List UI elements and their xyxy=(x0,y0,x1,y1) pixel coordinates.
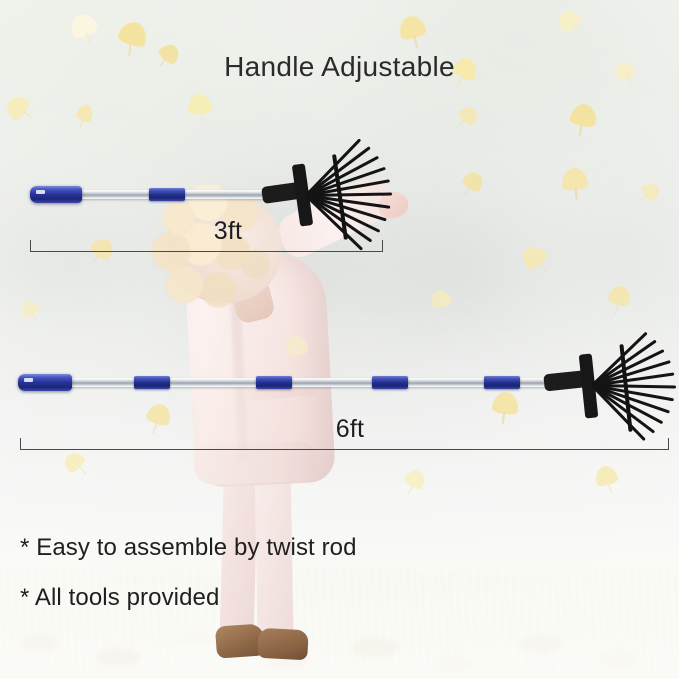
dimension-tick-right xyxy=(382,240,383,252)
ginkgo-leaf xyxy=(490,390,520,423)
dimension-label-3ft: 3ft xyxy=(214,217,242,246)
pole-collar xyxy=(256,376,292,389)
dimension-tick-left xyxy=(20,438,21,450)
rake-head-long xyxy=(544,338,679,442)
child-boot-right xyxy=(257,628,309,661)
handle-grip-long xyxy=(18,374,72,391)
ginkgo-leaf xyxy=(284,334,310,363)
pole-collar xyxy=(134,376,170,389)
dimension-line xyxy=(20,449,668,450)
pole-collar xyxy=(484,376,520,389)
dimension-tick-left xyxy=(30,240,31,252)
rake-head-short xyxy=(262,142,392,250)
ginkgo-leaf xyxy=(561,167,590,200)
dimension-tick-right xyxy=(668,438,669,450)
child-coat-hem xyxy=(193,441,318,485)
page-title: Handle Adjustable xyxy=(0,51,679,83)
dimension-label-6ft: 6ft xyxy=(336,415,364,444)
pole-collar xyxy=(149,188,185,201)
dimension-line xyxy=(30,251,382,252)
handle-grip-short xyxy=(30,186,82,203)
product-infographic: 3ft 6ft Han xyxy=(0,0,679,679)
feature-bullet-1: * Easy to assemble by twist rod xyxy=(20,534,357,562)
feature-bullet-2: * All tools provided xyxy=(20,584,219,612)
pole-collar xyxy=(372,376,408,389)
ginkgo-leaf xyxy=(186,92,214,123)
